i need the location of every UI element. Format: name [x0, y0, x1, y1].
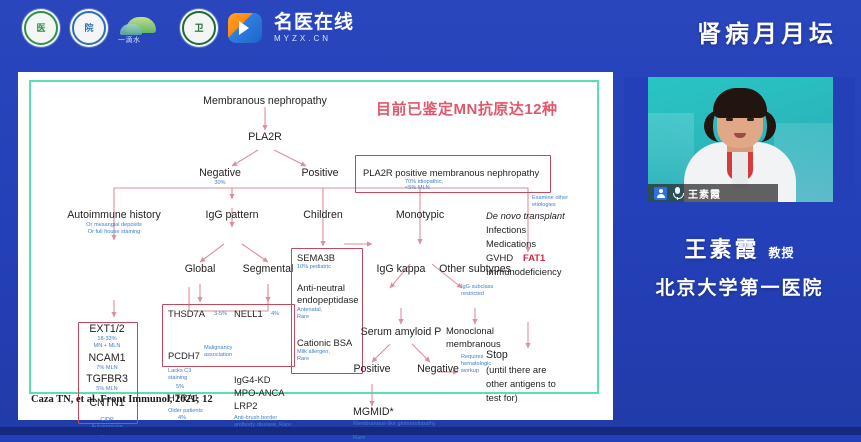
brand-wordmark: 名医在线 MYZX.CN [274, 13, 354, 43]
node-cbsa-sub1: Milk allergen, [297, 349, 330, 356]
node-ext12: EXT1/2 [89, 324, 124, 335]
node-pla2r-positive-sub2: <5% MLN [405, 185, 430, 192]
slide-surface: Membranous nephropathy PLA2R Negative 30… [18, 72, 613, 420]
node-gvhd: GVHD [486, 252, 513, 263]
node-monotypic: Monotypic [396, 210, 444, 221]
node-global: Global [185, 264, 216, 275]
person-icon [654, 187, 667, 200]
node-monoclonal-sub1: Requires [461, 354, 483, 361]
node-medications: Medications [486, 238, 536, 249]
node-monoclonal-2: membranous [446, 338, 501, 349]
node-mgmid-sub3: Rare [353, 435, 365, 442]
brand-name-en: MYZX.CN [274, 35, 354, 43]
logo-hospital-3-icon: 卫 [180, 9, 218, 47]
node-positive: Positive [301, 168, 338, 179]
node-ext12-sub2: MN + MLN [94, 343, 121, 350]
node-mono-negative: Negative [417, 364, 459, 375]
node-thsd7a: THSD7A [168, 308, 205, 319]
speaker-role: 教授 [769, 244, 795, 261]
node-sema3b: SEMA3B [297, 252, 335, 263]
node-serum-amyloid-p: Serum amyloid P [361, 327, 442, 338]
node-thsd7a-sub: 3-5% [214, 311, 227, 318]
node-monoclonal-sub3: workup [461, 368, 479, 375]
video-pillarbox-left [624, 77, 648, 202]
header-bar: 医 院 一滴水 卫 名医在线 MYZX.CN 肾病月月坛 [0, 0, 861, 62]
node-pcdh7-sub3: 5% [176, 384, 184, 391]
node-mono-positive: Positive [353, 364, 390, 375]
node-anep-2: endopeptidase [297, 294, 359, 305]
node-other-sub2: restricted [461, 291, 484, 298]
node-igg-kappa: IgG kappa [377, 264, 426, 275]
node-malignancy-2: association [204, 352, 232, 359]
node-nell1: NELL1 [234, 308, 263, 319]
video-pillarbox-right [833, 77, 855, 202]
node-negative-sub: 30% [214, 180, 225, 187]
node-htra1-sub2: 4% [178, 415, 186, 422]
logo-wordmark-hill-icon: 一滴水 [118, 11, 170, 45]
node-anep-1: Anti-neutral [297, 282, 345, 293]
node-immunodeficiency: Immunodeficiency [486, 266, 562, 277]
sponsor-logos: 医 院 一滴水 卫 名医在线 MYZX.CN [22, 9, 354, 47]
node-examine-other-2: etiologies [532, 202, 556, 209]
speaker-caption: 王素霞 教授 北京大学第一医院 [624, 232, 855, 300]
node-fat1: FAT1 [523, 252, 545, 263]
node-ncam1: NCAM1 [88, 353, 125, 364]
node-htra1-sub1: Older patients [168, 408, 203, 415]
node-negative: Negative [199, 168, 241, 179]
node-pla2r-positive-mn: PLA2R positive membranous nephropathy [363, 167, 539, 178]
node-tgfbr3-sub: 5% MLN [96, 386, 117, 393]
node-stop: Stop [486, 350, 508, 361]
node-de-novo-transplant: De novo transplant [486, 210, 565, 221]
bottom-bar [0, 427, 861, 435]
speaker-organization: 北京大学第一医院 [624, 273, 855, 300]
node-stop-line3: test for) [486, 392, 518, 403]
node-other-sub1: IgG subclass [461, 284, 493, 291]
citation: Caza TN, et al. Front Immunol, 2021; 12 [31, 394, 213, 405]
node-stop-line1: (until there are [486, 364, 546, 375]
speaker-name: 王素霞 [684, 232, 759, 264]
node-pcdh7: PCDH7 [168, 350, 200, 361]
presentation-stage: 医 院 一滴水 卫 名医在线 MYZX.CN 肾病月月坛 [0, 0, 861, 435]
logo-hospital-1-icon: 医 [22, 9, 60, 47]
node-autoimmune-history: Autoimmune history [67, 210, 161, 221]
node-mpo-anca: MPO-ANCA [234, 387, 285, 398]
node-anep-sub2: Rare [297, 314, 309, 321]
logo-hospital-2-icon: 院 [70, 9, 108, 47]
node-segmental: Segmental [243, 264, 294, 275]
node-igg4-kd: IgG4-KD [234, 374, 270, 385]
node-anep-sub1: Antenatal, [297, 307, 322, 314]
node-mgmid: MGMID* [353, 407, 394, 418]
microphone-icon[interactable] [672, 186, 683, 200]
node-ncam1-sub: 7% MLN [96, 365, 117, 372]
video-participant-name: 王素霞 [688, 186, 721, 201]
play-logo-icon [228, 13, 262, 43]
node-de-novo-label: De novo transplant [486, 210, 565, 221]
show-title: 肾病月月坛 [697, 14, 837, 49]
node-nell1-sub: 4% [271, 311, 279, 318]
node-membranous-nephropathy: Membranous nephropathy [203, 96, 327, 107]
node-pcdh7-sub2: staining [168, 375, 187, 382]
node-sema3b-sub: 10% pediatric [297, 264, 331, 271]
node-infections: Infections [486, 224, 526, 235]
video-tile[interactable]: 王素霞 [624, 77, 855, 202]
zh-callout: 目前已鉴定MN抗原达12种 [376, 98, 558, 119]
mn-antigen-flowchart: Membranous nephropathy PLA2R Negative 30… [18, 72, 613, 420]
node-cationic-bsa: Cationic BSA [297, 337, 352, 348]
node-pcdh7-sub1: Lacks C3 [168, 368, 191, 375]
node-lrp2: LRP2 [234, 400, 257, 411]
video-name-bar: 王素霞 [648, 184, 778, 202]
node-stop-line2: other antigens to [486, 378, 556, 389]
node-ext12-sub1: 18-33% [97, 336, 116, 343]
node-monoclonal-1: Monoclonal [446, 325, 494, 336]
node-tgfbr3: TGFBR3 [86, 374, 128, 385]
node-autoimmune-sub1: Or mesangial deposits [86, 222, 142, 229]
node-cbsa-sub2: Rare [297, 356, 309, 363]
node-lrp2-sub1: Anti-brush border [234, 415, 277, 422]
node-igg-pattern: IgG pattern [206, 210, 259, 221]
node-cntn1-sub1: CIDP [100, 417, 113, 424]
node-examine-other-1: Examine other [532, 195, 568, 202]
node-malignancy-1: Malignancy [204, 345, 232, 352]
node-pla2r: PLA2R [248, 132, 282, 143]
node-children: Children [303, 210, 342, 221]
node-autoimmune-sub2: Or full house staining [88, 229, 141, 236]
brand-name-cn: 名医在线 [274, 13, 354, 32]
